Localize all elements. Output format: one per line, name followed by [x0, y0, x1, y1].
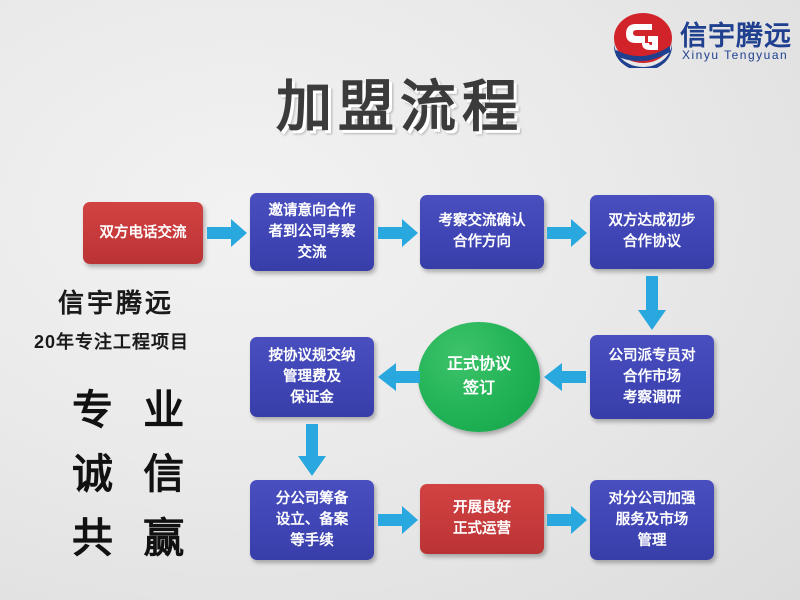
flow-node-label: 双方电话交流 [100, 223, 187, 244]
flow-node-preliminary-agreement[interactable]: 双方达成初步合作协议 [590, 195, 714, 269]
slogan-word-1: 专 业 [72, 376, 192, 436]
arrow-signing-to-fee [378, 363, 420, 391]
slogan-tagline: 20年专注工程项目 [34, 328, 189, 354]
slogan-company-name: 信宇腾远 [58, 283, 174, 320]
slogan-word-2: 诚 信 [72, 440, 192, 500]
brand-logo: 信宇腾远 Xinyu Tengyuan [612, 8, 792, 70]
flow-node-phone-communication[interactable]: 双方电话交流 [83, 202, 203, 264]
flow-node-label: 按协议规交纳管理费及保证金 [269, 346, 356, 409]
arrow-branch-setup-to-operation [378, 506, 418, 534]
slide-canvas: 信宇腾远 Xinyu Tengyuan 加盟流程 信宇腾远 20年专注工程项目 … [0, 0, 800, 600]
flow-node-formal-agreement-signing[interactable]: 正式协议签订 [418, 322, 540, 432]
logo-mark-icon [612, 12, 674, 68]
slogan-word-3: 共 赢 [72, 504, 192, 564]
flow-node-label: 分公司筹备设立、备案等手续 [276, 489, 349, 552]
flow-node-label: 邀请意向合作者到公司考察交流 [269, 201, 356, 264]
flow-node-label: 对分公司加强服务及市场管理 [609, 489, 696, 552]
flow-node-invite-visit[interactable]: 邀请意向合作者到公司考察交流 [250, 193, 374, 271]
flow-node-ongoing-support[interactable]: 对分公司加强服务及市场管理 [590, 480, 714, 560]
flow-node-start-operation[interactable]: 开展良好正式运营 [420, 484, 544, 554]
arrow-research-to-signing [544, 363, 586, 391]
arrow-invite-to-confirm [378, 219, 418, 247]
flow-node-confirm-direction[interactable]: 考察交流确认合作方向 [420, 195, 544, 269]
flow-node-label: 开展良好正式运营 [453, 498, 511, 540]
flow-node-pay-management-fee[interactable]: 按协议规交纳管理费及保证金 [250, 337, 374, 417]
arrow-phone-to-invite [207, 219, 247, 247]
flow-node-label: 考察交流确认合作方向 [439, 211, 526, 253]
flow-node-market-research[interactable]: 公司派专员对合作市场考察调研 [590, 335, 714, 419]
page-title: 加盟流程 [0, 62, 800, 143]
flow-node-branch-setup[interactable]: 分公司筹备设立、备案等手续 [250, 480, 374, 560]
flow-node-label: 双方达成初步合作协议 [609, 211, 696, 253]
arrow-agreement-to-research [638, 276, 666, 330]
logo-text-english: Xinyu Tengyuan [682, 48, 788, 62]
arrow-fee-to-branch-setup [298, 424, 326, 476]
arrow-confirm-to-agreement [547, 219, 587, 247]
arrow-operation-to-support [547, 506, 587, 534]
flow-node-label: 正式协议签订 [447, 353, 511, 401]
flow-node-label: 公司派专员对合作市场考察调研 [609, 346, 696, 409]
